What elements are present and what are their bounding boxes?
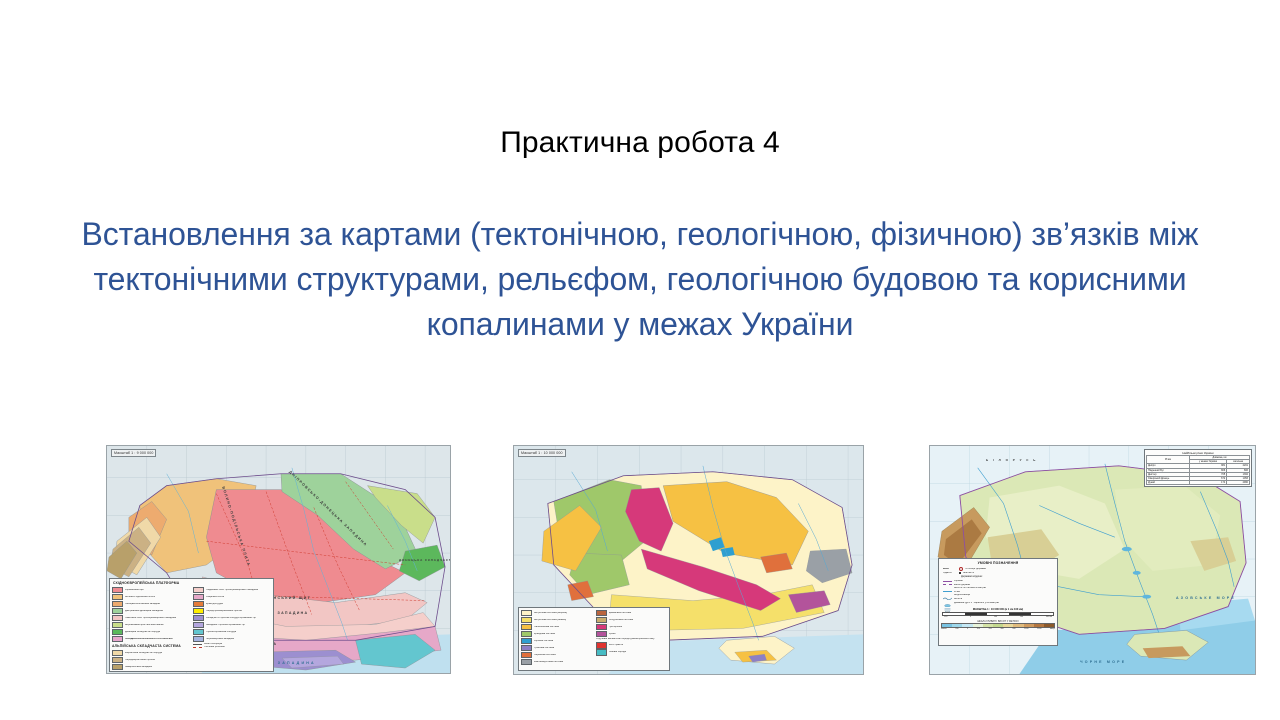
scale-text: МАСШТАБ 1 : 10 000 000 (в 1 см 100 км)	[942, 608, 1054, 611]
legend-swatch-scythian	[193, 594, 204, 600]
legend-label: Дніпровсько-Донецька западина	[125, 610, 163, 613]
legend-item: Западини і прогини Кримських гір	[193, 622, 271, 628]
legend-label: Антропова система (верхня)	[534, 612, 567, 615]
legend-swatch-devonian	[596, 610, 607, 616]
legend-item: Архей	[596, 631, 668, 637]
slide-subtitle: Встановлення за картами (тектонічною, ге…	[80, 212, 1200, 347]
page-title: Практична робота 4	[0, 124, 1280, 162]
capital-marker-icon	[959, 567, 963, 571]
legend-swatch-volyn-plate	[112, 594, 123, 600]
legend-label: Палеогенова система	[534, 626, 559, 629]
legend-label: Річки	[954, 591, 960, 594]
legend-item-heights-depths: Висоти та глибини в метрах	[939, 587, 1057, 590]
legend-swatch-shield	[112, 587, 123, 593]
legend-item: Південний схил Причорноморської западини	[193, 587, 271, 593]
tectonic-map-legend: СХІДНОЄВРОПЕЙСЬКА ПЛАТФОРМА Український …	[109, 578, 274, 672]
legend-item: Дніпровсько-Донецька западина	[112, 608, 190, 614]
legend-item: Антропова система (нижня)	[521, 617, 593, 623]
legend-swatch-north-slope	[112, 615, 123, 621]
reservoir-icon	[943, 594, 952, 597]
legend-label: Пермська система	[534, 654, 556, 657]
legend-label: Девонська система	[609, 612, 631, 615]
legend-item: Пермська система	[521, 652, 593, 658]
legend-item: кислі граніти	[596, 642, 668, 648]
legend-item: Палеогенова система	[521, 624, 593, 630]
dashed-line-icon	[193, 647, 202, 648]
legend-label: Волино-Подільська плита	[125, 596, 155, 599]
legend-subtitle-alpine-system: АЛЬПІЙСЬКА СКЛАДЧАСТА СИСТЕМА	[112, 643, 190, 650]
legend-item: Скіфська плита	[193, 594, 271, 600]
legend-label: Столиця держави	[965, 568, 986, 571]
scale-tick: 0	[970, 616, 971, 618]
legend-swatch-dobrudzha	[193, 601, 204, 607]
legend-column-right: Південний схил Причорноморської западини…	[193, 587, 271, 671]
legend-swatch-precarpathian	[112, 657, 123, 663]
hyps-value: 2000	[1037, 628, 1041, 630]
legend-swatch-south-slope	[193, 587, 204, 593]
legend-item-rivers: Річки	[939, 591, 1057, 594]
legend-label: інших держав	[954, 584, 970, 587]
legend-swatch-voronezh	[112, 622, 123, 628]
legend-label: Кам’яновугільна система	[534, 661, 563, 664]
legend-swatch-cretaceous	[521, 631, 532, 637]
hypsometric-scale-title: ШКАЛА ГЛИБИН І ВИСОТ У МЕТРАХ	[939, 620, 1057, 623]
map-scale-block: МАСШТАБ 1 : 10 000 000 (в 1 см 100 км) 1…	[939, 606, 1057, 618]
dashed-border-line-icon	[943, 584, 952, 585]
capital-code: КИЇВ	[943, 568, 957, 571]
legend-label: Кряж Добруджі	[206, 603, 223, 606]
solid-line-icon	[193, 644, 202, 645]
legend-swatch-pre-crimea-trough	[193, 608, 204, 614]
legend-item: Закарпатська западина	[112, 664, 190, 670]
legend-label: Водосховища	[954, 594, 970, 597]
legend-item-border-ukraine: України	[939, 580, 1057, 583]
legend-item: Північний схил Причорноморської западини	[112, 615, 190, 621]
rivers-col-name: Річка	[1147, 456, 1190, 464]
tectonic-scale-label: Масштаб 1 : 9 000 000	[111, 449, 156, 457]
border-line-icon	[943, 581, 952, 582]
hypsometric-values: нижче 200 0 100 200 300 500 1000 2000 ви…	[939, 628, 1057, 630]
legend-swatch-permian	[521, 652, 532, 658]
legend-swatch-quaternary-lower	[521, 617, 532, 623]
legend-label: Юрська система	[534, 640, 553, 643]
legend-label: основні породи	[609, 651, 627, 654]
hyps-value: вище	[1050, 628, 1055, 630]
physical-map-legend: УМОВНІ ПОЗНАЧЕННЯ КИЇВ Столиця держави О…	[938, 558, 1058, 646]
marsh-icon	[943, 598, 952, 601]
legend-label: Глибинні розломи	[204, 646, 225, 649]
legend-item: ЗАХІДНОЄВРОПЕЙСЬКА ПЛАТФОРМА	[112, 636, 190, 642]
legend-item: Силурійська система	[596, 617, 668, 623]
legend-label: ЗАХІДНОЄВРОПЕЙСЬКА ПЛАТФОРМА	[125, 638, 173, 641]
legend-item: Кам’яновугільна система	[521, 659, 593, 665]
legend-item: Волино-Подільська плита	[112, 594, 190, 600]
legend-swatch-crimea-mountains	[193, 629, 204, 635]
legend-item: Чорноморська западина	[193, 636, 271, 642]
legend-label: Протерозой	[609, 626, 623, 629]
legend-swatch-triassic	[521, 645, 532, 651]
legend-swatch-crimea-troughs	[193, 622, 204, 628]
legend-item: Галицько-Волинська западина	[112, 601, 190, 607]
legend-label: Інші міста	[963, 572, 974, 575]
river-name: Дунай	[1147, 481, 1190, 485]
legend-swatch-carboniferous	[521, 659, 532, 665]
physical-map-image[interactable]: Б І Л О Р У С Ь АЗОВСЬКЕ МОРЕ ЧОРНЕ МОРЕ…	[929, 445, 1256, 675]
hyps-value: нижче	[941, 628, 947, 630]
legend-swatch-proterozoic	[596, 624, 607, 630]
legend-column-left: Антропова система (верхня) Антропова сис…	[521, 610, 593, 666]
legend-swatch-archean	[596, 631, 607, 637]
legend-label: Крейдова система	[534, 633, 555, 636]
city-code: ОДЕСА	[943, 572, 957, 575]
legend-label: України	[954, 580, 963, 583]
legend-swatch-crimea-folded	[193, 615, 204, 621]
legend-label: Український щит	[125, 589, 144, 592]
legend-label: Архей	[609, 633, 616, 636]
legend-label: Антропова система (нижня)	[534, 619, 566, 622]
legend-label: Передкарпатський прогин	[125, 659, 155, 662]
legend-item: Передгірськокримський прогин	[193, 608, 271, 614]
legend-label: Південний схил Причорноморської западини	[206, 589, 258, 592]
legend-item-parallel-arc: Довжина дуги 1° паралелі у кілометрах	[939, 602, 1057, 606]
wave-icon	[943, 587, 952, 590]
legend-swatch-silurian	[596, 617, 607, 623]
legend-column-left: Український щит Волино-Подільська плита …	[112, 587, 190, 671]
geological-map-image[interactable]: Масштаб 1 : 10 000 000 Антропова система…	[513, 445, 864, 675]
legend-item-city: ОДЕСА Інші міста	[939, 572, 1057, 575]
river-length-total: 2960	[1227, 481, 1250, 485]
legend-swatch-basic-rocks	[596, 649, 607, 655]
legend-label: Закарпатська западина	[125, 666, 152, 669]
legend-label: Довжина дуги 1° паралелі у кілометрах	[954, 602, 999, 605]
legend-item: Крейдова система	[521, 631, 593, 637]
legend-item: Кряж Добруджі	[193, 601, 271, 607]
legend-item: Донецька складчаста споруда	[112, 629, 190, 635]
legend-item: Протерозой	[596, 624, 668, 630]
table-row: Дунай 174 2960	[1147, 481, 1250, 485]
legend-item: Юрська система	[521, 638, 593, 644]
hyps-value: 1000	[1024, 628, 1028, 630]
legend-swatch-west-european-platform	[112, 636, 123, 642]
geological-map-legend: Антропова система (верхня) Антропова сис…	[518, 607, 670, 671]
legend-item: Складчаті й брилові споруди Кримських гі…	[193, 615, 271, 621]
legend-swatch-transcarpathian	[112, 664, 123, 670]
legend-item-marshes: Болота	[939, 598, 1057, 601]
legend-item-capital: КИЇВ Столиця держави	[939, 567, 1057, 571]
legend-item: Карпатська складчаста споруда	[112, 650, 190, 656]
scale-tick: 100	[944, 616, 947, 618]
geological-scale-label: Масштаб 1 : 10 000 000	[518, 449, 566, 457]
legend-label: Галицько-Волинська западина	[125, 603, 160, 606]
legend-item-platform-boundary: Межі платформ	[193, 643, 271, 646]
hyps-value: 100	[977, 628, 980, 630]
legend-item: Девонська система	[596, 610, 668, 616]
map-gallery: Масштаб 1 : 9 000 000 ВОЛИНО-ПОДІЛЬСЬКА …	[0, 429, 1280, 661]
hyps-value: 500	[1012, 628, 1015, 630]
legend-swatch-black-sea-depression	[193, 636, 204, 642]
legend-item: Воронезький кристалічний масив	[112, 622, 190, 628]
scale-tick-labels: 100 0 100 200 300 км	[942, 616, 1054, 618]
legend-label: Північний схил Причорноморської западини	[125, 617, 176, 620]
legend-label: Межі платформ	[204, 643, 222, 646]
hyps-value: 200	[989, 628, 992, 630]
legend-swatch-paleogene	[521, 624, 532, 630]
city-marker-icon	[959, 572, 961, 574]
legend-label: Складчаті й брилові споруди Кримських гі…	[206, 617, 256, 620]
legend-swatch-acid-granites	[596, 642, 607, 648]
legend-item-deep-fault: Глибинні розломи	[193, 646, 271, 649]
hyps-value: 200	[955, 628, 958, 630]
legend-swatch-jurassic	[521, 638, 532, 644]
legend-label: Чорноморська западина	[206, 638, 234, 641]
legend-label: Гірсько-Кримська споруда	[206, 631, 236, 634]
legend-swatch-carpathian	[112, 650, 123, 656]
legend-swatch-dnipro-donets	[112, 608, 123, 614]
legend-swatch-quaternary-upper	[521, 610, 532, 616]
legend-label: Болота	[954, 598, 962, 601]
legend-label: Передгірськокримський прогин	[206, 610, 242, 613]
legend-item: основні породи	[596, 649, 668, 655]
legend-item-border-other: інших держав	[939, 584, 1057, 587]
river-line-icon	[943, 591, 952, 592]
rivers-table: Найбільші річки України Річка Довжина, к…	[1144, 449, 1252, 487]
legend-title-conventional-signs: УМОВНІ ПОЗНАЧЕННЯ	[939, 559, 1057, 567]
hyps-value: 0	[967, 628, 968, 630]
scale-tick: 200	[1020, 616, 1023, 618]
hyps-value: 300	[1000, 628, 1003, 630]
scale-tick: 100	[994, 616, 997, 618]
legend-label: Карпатська складчаста споруда	[125, 652, 162, 655]
legend-label: Скіфська плита	[206, 596, 224, 599]
legend-label: кислі граніти	[609, 644, 624, 647]
scale-tick: 300 км	[1046, 616, 1052, 618]
legend-item: Український щит	[112, 587, 190, 593]
legend-note-intrusive-rocks: Інтрузивні магматичні породи докембрійсь…	[596, 638, 668, 641]
legend-item-reservoirs: Водосховища	[939, 594, 1057, 597]
legend-label: Воронезький кристалічний масив	[125, 624, 164, 627]
legend-item: Тріасова система	[521, 645, 593, 651]
river-length-ukraine: 174	[1189, 481, 1226, 485]
legend-item: Гірсько-Кримська споруда	[193, 629, 271, 635]
legend-label: Тріасова система	[534, 647, 554, 650]
legend-swatch-galicia-volyn	[112, 601, 123, 607]
legend-label: Висоти та глибини в метрах	[954, 587, 986, 590]
legend-item: Антропова система (верхня)	[521, 610, 593, 616]
legend-item: Передкарпатський прогин	[112, 657, 190, 663]
legend-label: Донецька складчаста споруда	[125, 631, 160, 634]
legend-label: Западини і прогини Кримських гір	[206, 624, 245, 627]
legend-swatch-donets-folded	[112, 629, 123, 635]
legend-column-right: Девонська система Силурійська система Пр…	[596, 610, 668, 666]
arc-box-icon	[943, 602, 952, 606]
legend-label: Силурійська система	[609, 619, 634, 622]
legend-title-east-european-platform: СХІДНОЄВРОПЕЙСЬКА ПЛАТФОРМА	[110, 579, 273, 587]
tectonic-map-image[interactable]: Масштаб 1 : 9 000 000 ВОЛИНО-ПОДІЛЬСЬКА …	[106, 445, 451, 674]
